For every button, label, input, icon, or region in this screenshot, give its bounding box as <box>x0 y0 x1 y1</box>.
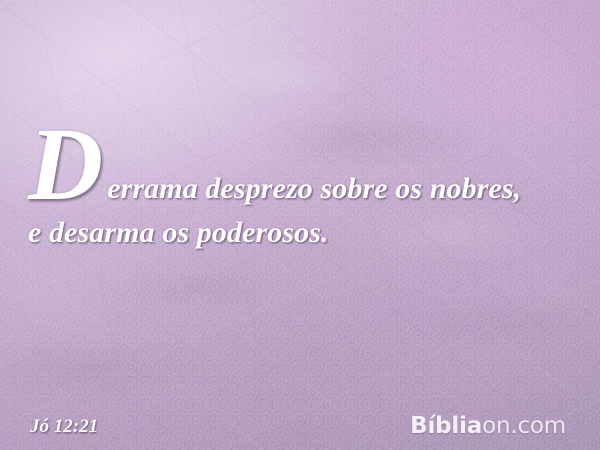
verse-text-block: Derrama desprezo sobre os nobres, e desa… <box>28 126 584 248</box>
logo-bold-text: Bíblia <box>410 413 482 439</box>
logo-light-text: on.com <box>482 413 566 439</box>
verse-line-1-text: errama desprezo sobre os nobres, <box>107 126 521 204</box>
bibliaon-logo[interactable]: Bíbliaon.com <box>410 415 566 438</box>
verse-line-2: e desarma os poderosos. <box>28 218 584 248</box>
verse-card: Derrama desprezo sobre os nobres, e desa… <box>0 0 600 450</box>
verse-reference: Jó 12:21 <box>30 417 98 436</box>
verse-line-1: Derrama desprezo sobre os nobres, <box>28 126 584 204</box>
verse-dropcap: D <box>28 126 103 204</box>
